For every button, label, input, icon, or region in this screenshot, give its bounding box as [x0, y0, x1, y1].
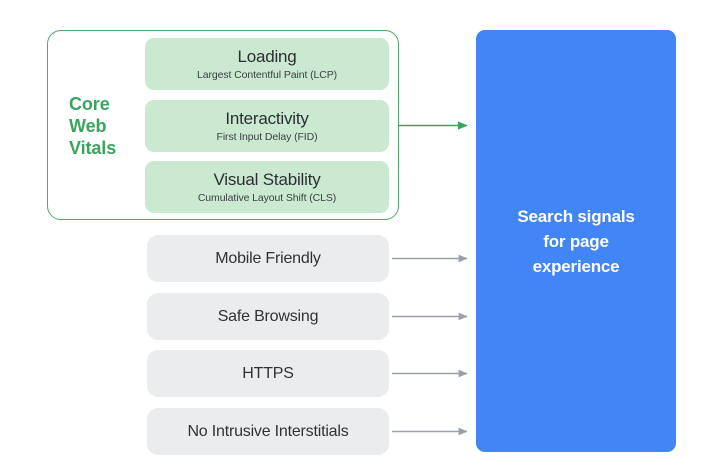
core-web-vitals-label: Core Web Vitals: [69, 93, 139, 159]
vital-card-loading: Loading Largest Contentful Paint (LCP): [145, 38, 389, 90]
signal-label: HTTPS: [242, 364, 293, 384]
signal-card-https: HTTPS: [147, 350, 389, 397]
vital-title: Loading: [237, 46, 296, 67]
signal-card-mobile-friendly: Mobile Friendly: [147, 235, 389, 282]
vital-subtitle: Cumulative Layout Shift (CLS): [198, 191, 336, 205]
signal-label: No Intrusive Interstitials: [187, 422, 348, 442]
search-signals-box: Search signals for page experience: [476, 30, 676, 452]
vital-title: Interactivity: [225, 108, 308, 129]
signal-label: Safe Browsing: [218, 307, 319, 327]
vital-title: Visual Stability: [213, 169, 320, 190]
vital-subtitle: First Input Delay (FID): [217, 130, 318, 144]
signal-card-no-intrusive-interstitials: No Intrusive Interstitials: [147, 408, 389, 455]
vital-subtitle: Largest Contentful Paint (LCP): [197, 68, 337, 82]
signal-label: Mobile Friendly: [215, 249, 321, 269]
search-signals-label: Search signals for page experience: [499, 204, 652, 279]
vital-card-visual-stability: Visual Stability Cumulative Layout Shift…: [145, 161, 389, 213]
signal-card-safe-browsing: Safe Browsing: [147, 293, 389, 340]
vital-card-interactivity: Interactivity First Input Delay (FID): [145, 100, 389, 152]
diagram-canvas: Core Web Vitals Loading Largest Contentf…: [0, 0, 724, 465]
